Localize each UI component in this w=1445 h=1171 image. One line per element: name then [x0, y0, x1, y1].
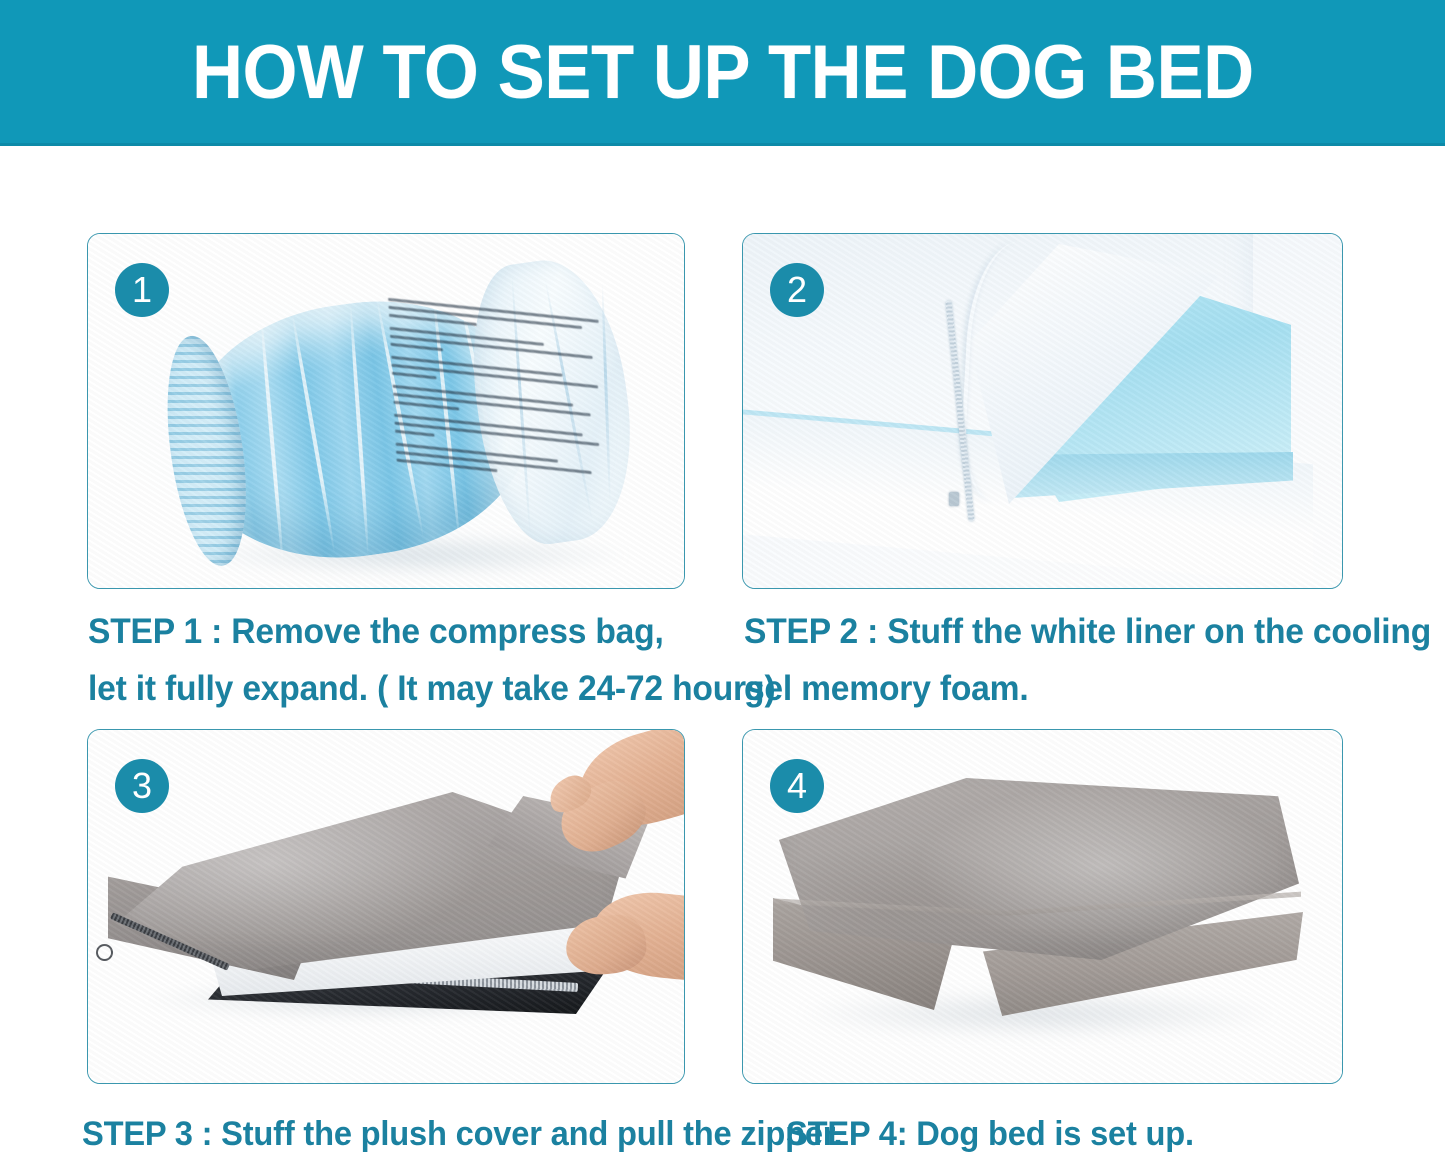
step-1-caption-line2: let it fully expand. ( It may take 24-72… [88, 660, 775, 717]
step-2-caption-line2: gel memory foam. [744, 660, 1028, 717]
plush-cover-zipper-pull-icon [96, 944, 113, 961]
step-3-photo [88, 730, 684, 1083]
step-1-badge: 1 [115, 263, 169, 317]
step-2-photo [743, 234, 1342, 588]
banner-underline [0, 143, 1445, 146]
step-3-badge: 3 [115, 759, 169, 813]
step-4-caption: STEP 4: Dog bed is set up. [786, 1112, 1194, 1156]
step-1-panel: 1 [87, 233, 685, 589]
step-4-badge: 4 [770, 759, 824, 813]
step-2-panel: 2 [742, 233, 1343, 589]
step-4-panel: 4 [742, 729, 1343, 1084]
step-1-caption-line1: STEP 1 : Remove the compress bag, [88, 603, 664, 660]
step-4-photo [743, 730, 1342, 1083]
header-banner: HOW TO SET UP THE DOG BED [0, 0, 1445, 146]
liner-zipper-pull-icon [949, 492, 959, 506]
compressed-foam-roll [166, 257, 631, 589]
liner-foam-scene [742, 233, 1343, 589]
step-2-badge: 2 [770, 263, 824, 317]
hand-upper [528, 729, 685, 874]
hand-lower-right [540, 888, 685, 1018]
bag-warning-label [388, 298, 618, 527]
step-3-panel: 3 [87, 729, 685, 1084]
step-2-caption-line1: STEP 2 : Stuff the white liner on the co… [744, 603, 1431, 660]
step-3-caption: STEP 3 : Stuff the plush cover and pull … [82, 1112, 842, 1156]
step-1-photo [88, 234, 684, 588]
page-title: HOW TO SET UP THE DOG BED [192, 35, 1254, 111]
